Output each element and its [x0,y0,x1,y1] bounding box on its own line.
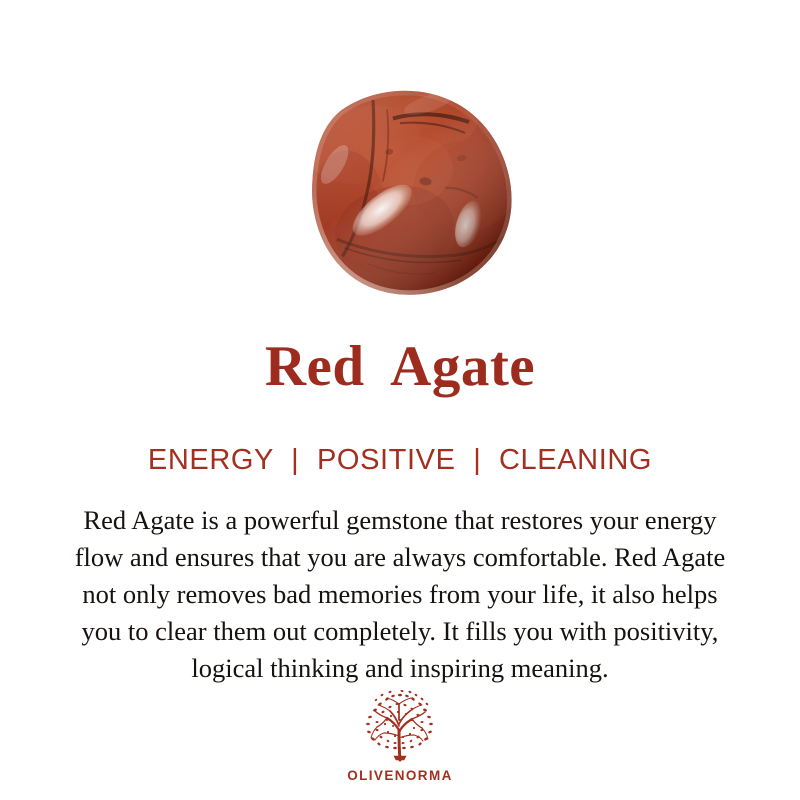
description-line: Red Agate is a powerful gemstone that re… [22,502,778,539]
poster-canvas: Red Agate ENERGY | POSITIVE | CLEANING R… [0,0,800,800]
description-line: flow and ensures that you are always com… [22,539,778,576]
description-line: you to clear them out completely. It fil… [22,613,778,650]
keyword-separator: | [464,444,490,477]
page-title: Red Agate [0,337,800,397]
keyword-separator: | [282,444,308,477]
keyword-positive: POSITIVE [317,444,456,476]
keyword-energy: ENERGY [148,444,274,476]
brand-name: OLIVENORMA [0,768,800,783]
product-image-area [0,0,800,320]
description-line: logical thinking and inspiring meaning. [22,650,778,687]
brand-logo: OLIVENORMA [0,690,800,783]
keyword-line: ENERGY | POSITIVE | CLEANING [0,444,800,477]
keyword-cleaning: CLEANING [499,444,652,476]
description-line: not only removes bad memories from your … [22,576,778,613]
tree-of-life-icon [356,690,444,766]
description-paragraph: Red Agate is a powerful gemstone that re… [22,502,778,687]
red-agate-tumbled-stone [282,70,518,302]
